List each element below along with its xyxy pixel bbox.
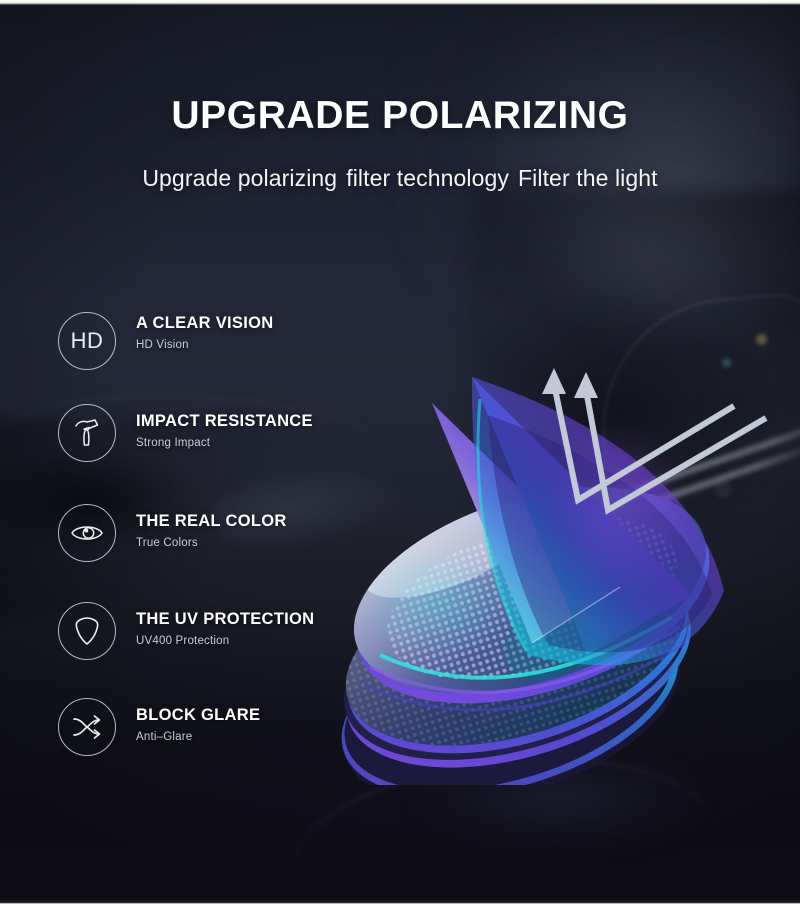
feature-list: HD A CLEAR VISION HD Vision IMPACT RESIS… [58, 312, 388, 778]
feature-title: A CLEAR VISION [136, 314, 273, 332]
feature-text: BLOCK GLARE Anti–Glare [136, 706, 260, 743]
page-subtitle: Upgrade polarizingfilter technologyFilte… [0, 165, 800, 192]
feature-item-real-color: THE REAL COLOR True Colors [58, 504, 388, 602]
subtitle-part-3: Filter the light [518, 165, 658, 191]
feature-item-block-glare: BLOCK GLARE Anti–Glare [58, 698, 388, 778]
feature-item-uv-protection: THE UV PROTECTION UV400 Protection [58, 602, 388, 698]
feature-subtitle: HD Vision [136, 339, 273, 351]
subtitle-part-1: Upgrade polarizing [142, 165, 337, 191]
feature-title: THE REAL COLOR [136, 512, 287, 530]
shield-icon [58, 602, 116, 660]
feature-subtitle: Anti–Glare [136, 731, 260, 743]
feature-subtitle: Strong Impact [136, 437, 313, 449]
page-title: UPGRADE POLARIZING [0, 96, 800, 135]
reflected-light-arrows [520, 368, 770, 528]
feature-item-clear-vision: HD A CLEAR VISION HD Vision [58, 312, 388, 404]
crossing-arrows-icon [58, 698, 116, 756]
eye-icon [58, 504, 116, 562]
feature-subtitle: UV400 Protection [136, 635, 314, 647]
feature-title: IMPACT RESISTANCE [136, 412, 313, 430]
feature-text: THE REAL COLOR True Colors [136, 512, 287, 549]
hammer-icon [58, 404, 116, 462]
top-border-strip [0, 0, 800, 5]
feature-text: THE UV PROTECTION UV400 Protection [136, 610, 314, 647]
feature-title: THE UV PROTECTION [136, 610, 314, 628]
feature-text: A CLEAR VISION HD Vision [136, 314, 273, 351]
feature-text: IMPACT RESISTANCE Strong Impact [136, 412, 313, 449]
headline-block: UPGRADE POLARIZING Upgrade polarizingfil… [0, 96, 800, 192]
feature-item-impact-resistance: IMPACT RESISTANCE Strong Impact [58, 404, 388, 504]
bottom-border-strip [0, 900, 800, 904]
subtitle-part-2: filter technology [346, 165, 509, 191]
feature-subtitle: True Colors [136, 537, 287, 549]
product-infographic-poster: UPGRADE POLARIZING Upgrade polarizingfil… [0, 0, 800, 904]
hd-badge-label: HD [71, 330, 104, 352]
feature-title: BLOCK GLARE [136, 706, 260, 724]
hd-badge-icon: HD [58, 312, 116, 370]
